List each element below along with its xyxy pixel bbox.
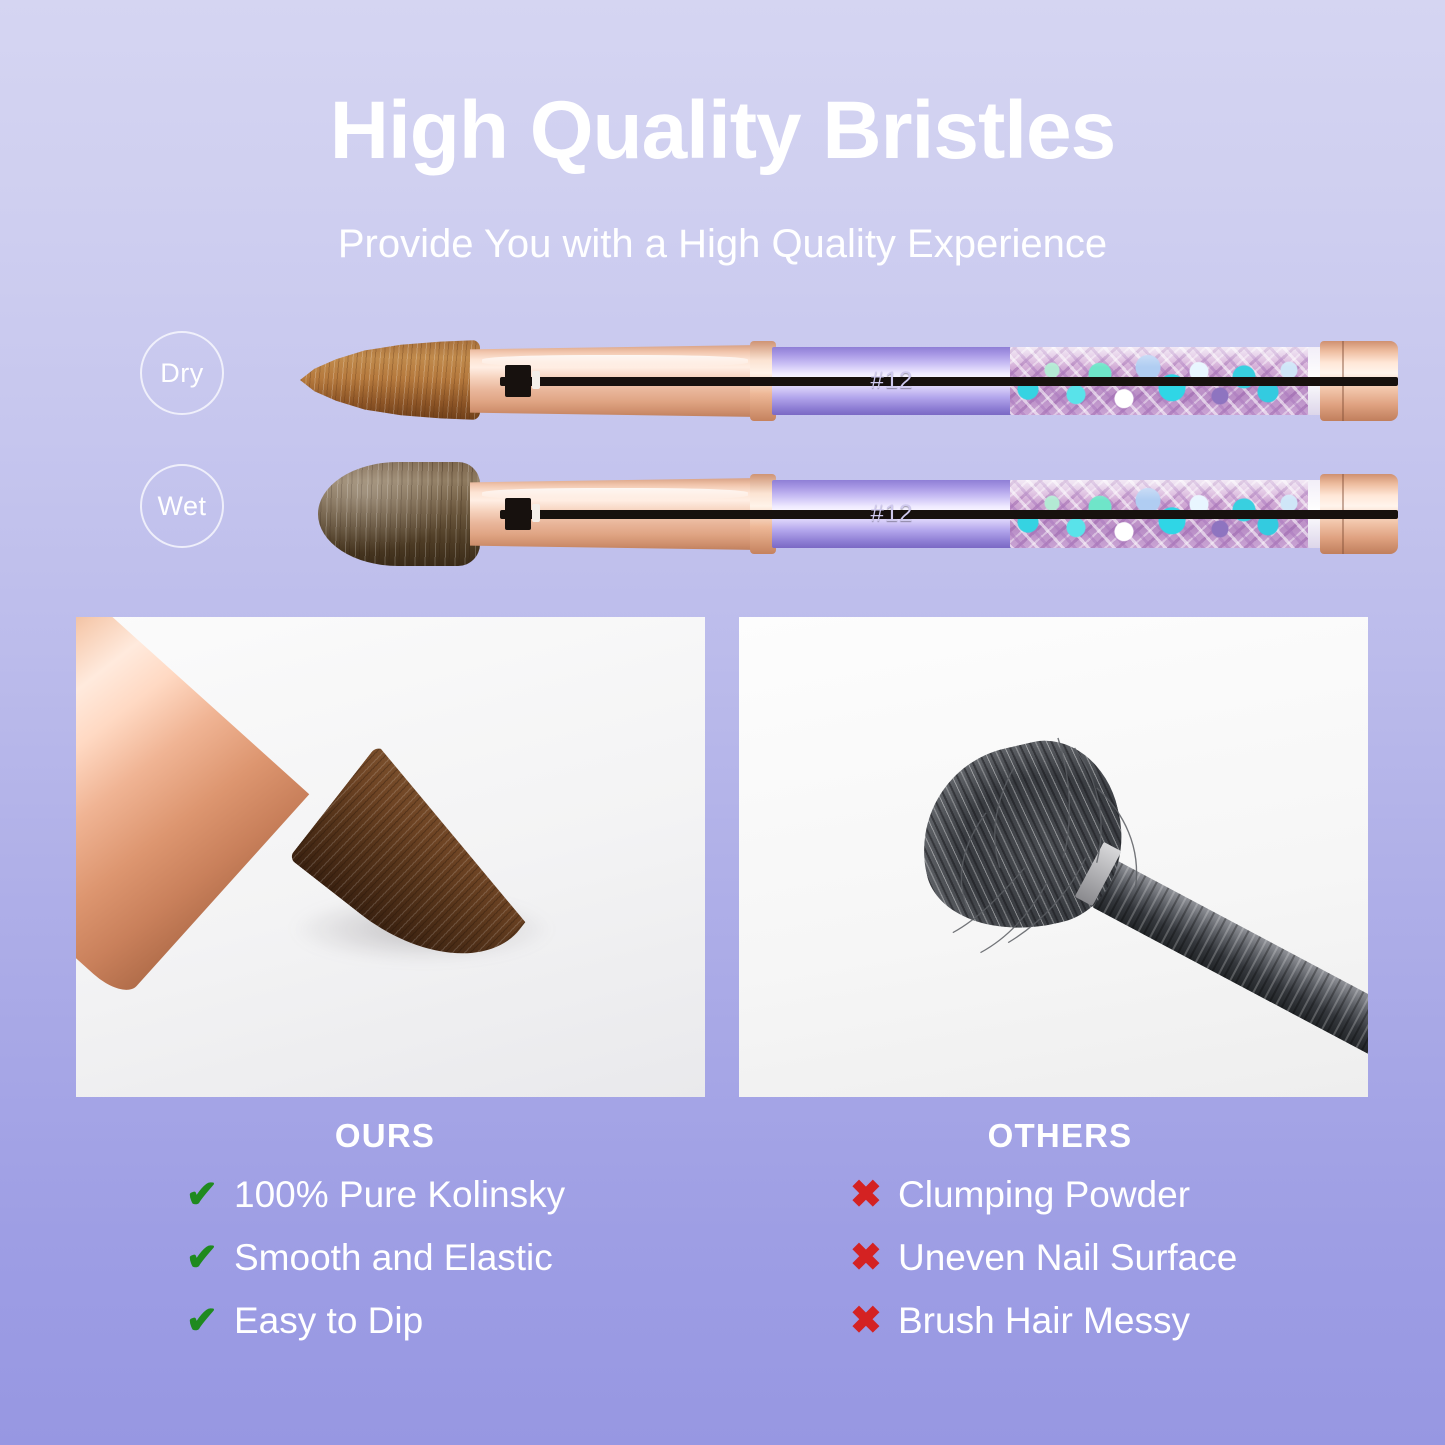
cross-icon: ✖ — [850, 1302, 898, 1340]
check-icon: ✔ — [186, 1302, 234, 1340]
list-item-label: Smooth and Elastic — [234, 1237, 553, 1279]
check-icon: ✔ — [186, 1239, 234, 1277]
state-badge-wet-label: Wet — [157, 491, 206, 522]
page-title: High Quality Bristles — [0, 88, 1445, 174]
brush-bristles-rounded — [318, 462, 480, 566]
column-heading-others: OTHERS — [825, 1117, 1295, 1155]
brush-size-label-wet: #12 — [772, 500, 1012, 528]
brush-seam-highlight — [532, 504, 540, 522]
list-item-label: Clumping Powder — [898, 1174, 1190, 1216]
check-icon: ✔ — [186, 1176, 234, 1214]
photo-others — [739, 617, 1368, 1097]
state-badge-dry: Dry — [140, 331, 224, 415]
page-subtitle: Provide You with a High Quality Experien… — [0, 222, 1445, 267]
brush-seam-nub — [505, 365, 531, 397]
brush-midband: #12 — [772, 347, 1012, 415]
brush-size-label-dry: #12 — [772, 367, 1012, 395]
list-item: ✖ Brush Hair Messy — [850, 1289, 1237, 1352]
list-item-label: Brush Hair Messy — [898, 1300, 1190, 1342]
list-item-label: 100% Pure Kolinsky — [234, 1174, 565, 1216]
state-badge-wet: Wet — [140, 464, 224, 548]
brush-illustration-dry: #12 — [300, 305, 1360, 455]
list-item: ✖ Clumping Powder — [850, 1163, 1237, 1226]
cross-icon: ✖ — [850, 1239, 898, 1277]
product-infographic: High Quality Bristles Provide You with a… — [0, 0, 1445, 1445]
column-heading-ours: OURS — [150, 1117, 620, 1155]
brush-midband: #12 — [772, 480, 1012, 548]
feature-list-ours: ✔ 100% Pure Kolinsky ✔ Smooth and Elasti… — [186, 1163, 565, 1352]
list-item-label: Uneven Nail Surface — [898, 1237, 1237, 1279]
list-item: ✔ Easy to Dip — [186, 1289, 565, 1352]
list-item-label: Easy to Dip — [234, 1300, 423, 1342]
state-badge-dry-label: Dry — [160, 358, 204, 389]
list-item: ✔ Smooth and Elastic — [186, 1226, 565, 1289]
brush-bristles-pointed — [300, 340, 480, 420]
feature-list-others: ✖ Clumping Powder ✖ Uneven Nail Surface … — [850, 1163, 1237, 1352]
brush-seam-nub — [505, 498, 531, 530]
brush-seam-highlight — [532, 371, 540, 389]
list-item: ✖ Uneven Nail Surface — [850, 1226, 1237, 1289]
photo-ours — [76, 617, 705, 1097]
brush-row-dry: Dry #12 — [0, 305, 1445, 455]
brush-row-wet: Wet #12 — [0, 438, 1445, 588]
brush-illustration-wet: #12 — [300, 438, 1360, 588]
cross-icon: ✖ — [850, 1176, 898, 1214]
list-item: ✔ 100% Pure Kolinsky — [186, 1163, 565, 1226]
